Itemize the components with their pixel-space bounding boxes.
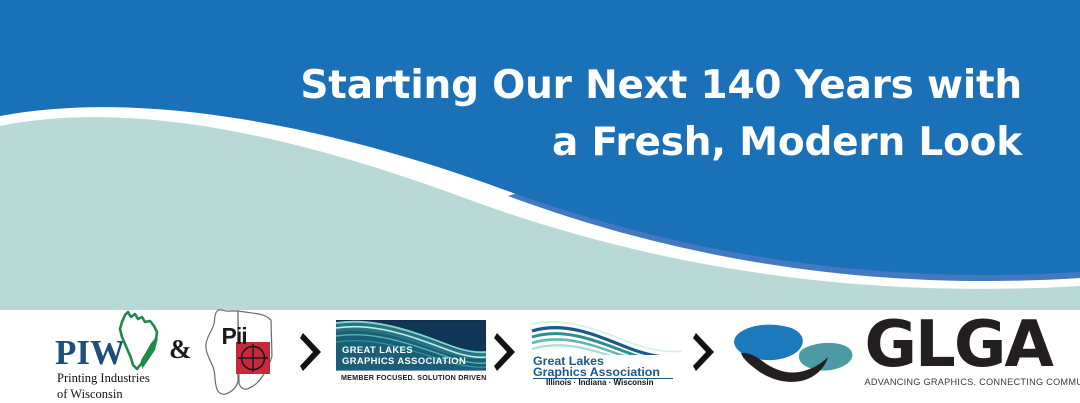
- glga-new-tagline: ADVANCING GRAPHICS. CONNECTING COMMUNITY…: [865, 377, 1080, 387]
- headline-line-2: a Fresh, Modern Look: [0, 115, 1022, 172]
- headline-line-1: Starting Our Next 140 Years with: [300, 63, 1022, 108]
- glga-legacy-line-1: GREAT LAKES: [342, 344, 413, 355]
- glga-legacy-line-2: GRAPHICS ASSOCIATION: [342, 355, 466, 366]
- glga-new-acronym: GLGA: [865, 316, 1080, 375]
- logo-evolution-strip: PIW Printing Industriesof Wisconsin &: [0, 300, 1080, 403]
- piw-subtitle: Printing Industriesof Wisconsin: [57, 370, 150, 402]
- pii-acronym: Pii: [222, 325, 247, 348]
- chevron-right-icon-1: [296, 332, 326, 372]
- chevron-right-icon-3: [689, 332, 719, 372]
- piw-subtitle-line-2: of Wisconsin: [57, 387, 123, 401]
- pii-logo: Pii: [196, 304, 292, 400]
- glga-new-wordmark: GLGA ADVANCING GRAPHICS. CONNECTING COMM…: [865, 316, 1080, 387]
- rebrand-banner: Starting Our Next 140 Years with a Fresh…: [0, 0, 1080, 403]
- glga-swoosh-mark-icon: [731, 319, 861, 385]
- legacy-logos-group: PIW Printing Industriesof Wisconsin &: [55, 304, 292, 400]
- piw-subtitle-line-1: Printing Industries: [57, 371, 150, 385]
- wisconsin-state-outline-icon: [111, 310, 166, 372]
- glga-new-logo: GLGA ADVANCING GRAPHICS. CONNECTING COMM…: [731, 312, 1080, 392]
- glga-interim-tagline: Illinois · Indiana · Wisconsin: [546, 378, 654, 385]
- glga-legacy-logo: GREAT LAKES GRAPHICS ASSOCIATION MEMBER …: [336, 320, 486, 384]
- glga-legacy-tagline: MEMBER FOCUSED. SOLUTION DRIVEN.: [341, 373, 486, 382]
- ampersand-separator: &: [169, 334, 192, 365]
- glga-interim-logo: Great Lakes Graphics Association Illinoi…: [530, 319, 685, 385]
- piw-logo: PIW Printing Industriesof Wisconsin: [55, 309, 167, 395]
- page-title: Starting Our Next 140 Years with a Fresh…: [0, 58, 1022, 172]
- glga-interim-line-2: Graphics Association: [533, 365, 660, 379]
- chevron-right-icon-2: [490, 332, 520, 372]
